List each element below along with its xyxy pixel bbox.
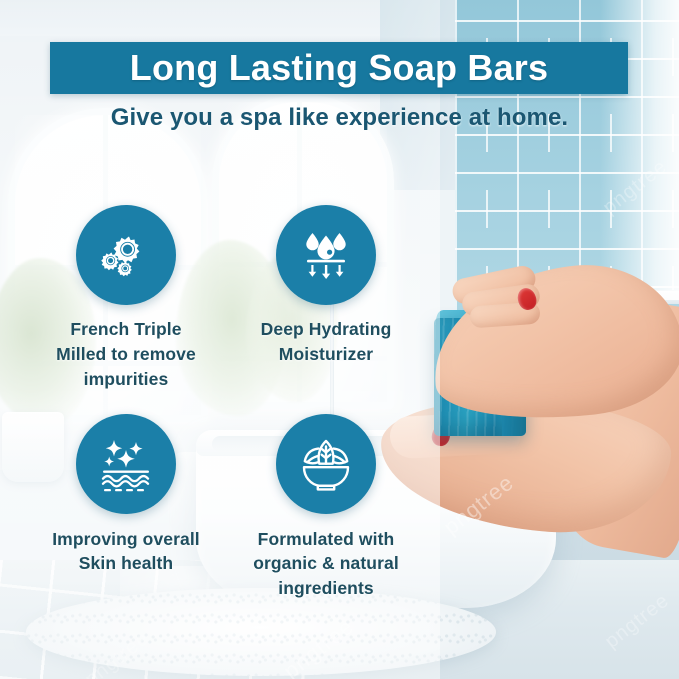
feature-label: Formulated with organic & natural ingred… bbox=[253, 527, 399, 602]
feature-label: Deep Hydrating Moisturizer bbox=[261, 317, 392, 367]
feature-item-improving-skin-health: Improving overall Skin health bbox=[26, 414, 226, 602]
feature-row-1: French Triple Milled to remove impuritie… bbox=[26, 205, 426, 392]
page-title: Long Lasting Soap Bars bbox=[130, 50, 548, 86]
feature-row-2: Improving overall Skin health bbox=[26, 414, 426, 602]
feature-label: Improving overall Skin health bbox=[52, 527, 200, 577]
title-banner: Long Lasting Soap Bars bbox=[50, 42, 628, 94]
water-droplets-absorb-icon bbox=[276, 205, 376, 305]
feature-label: French Triple Milled to remove impuritie… bbox=[56, 317, 196, 392]
feature-item-organic-natural-ingredients: Formulated with organic & natural ingred… bbox=[226, 414, 426, 602]
herbal-bowl-leaves-icon bbox=[276, 414, 376, 514]
feature-grid: French Triple Milled to remove impuritie… bbox=[26, 205, 426, 601]
bath-mat-texture bbox=[26, 588, 496, 676]
feature-item-deep-hydrating-moisturizer: Deep Hydrating Moisturizer bbox=[226, 205, 426, 392]
feature-item-french-triple-milled: French Triple Milled to remove impuritie… bbox=[26, 205, 226, 392]
product-infographic: pngtree pngtree pngtree pngtree pngtree … bbox=[0, 0, 679, 679]
gears-icon bbox=[76, 205, 176, 305]
sparkle-skin-layers-icon bbox=[76, 414, 176, 514]
page-subtitle: Give you a spa like experience at home. bbox=[0, 104, 679, 132]
